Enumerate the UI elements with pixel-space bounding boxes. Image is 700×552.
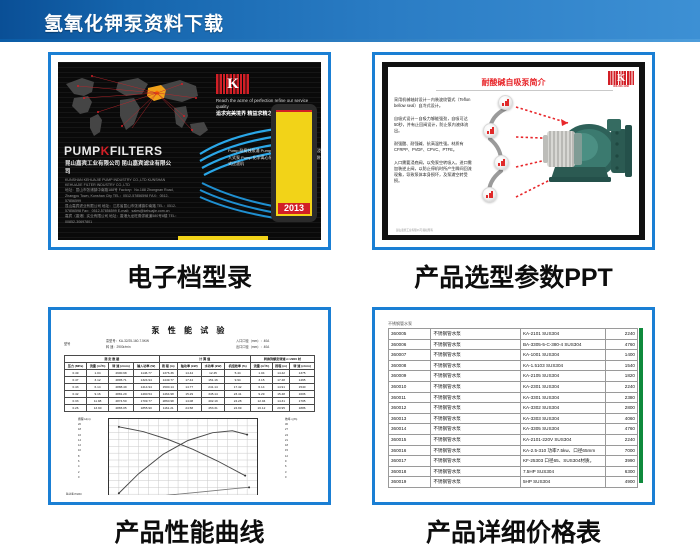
table-col-header: 流量 (m³/h) xyxy=(250,363,272,370)
price-code: 360014 xyxy=(389,424,431,435)
price-name: 不锈钢管水泵 xyxy=(431,403,521,414)
table-cell: 2888.49 xyxy=(109,384,134,391)
table-row: 0.49 1.04 2900.98 1146.77 1376.36 14.44 … xyxy=(65,370,315,377)
price-value: 2380 xyxy=(605,392,637,403)
price-model: 7.5HP SUS304 xyxy=(520,466,605,477)
table-cell: 453.31 xyxy=(201,405,225,412)
table-cell: 0.49 xyxy=(65,370,87,377)
table-cell: 1500.14 xyxy=(159,384,177,391)
card-catalog[interactable]: PUMPKFILTERS 昆山嘉宾工业有限公司 昆山嘉宾滤业有限公司 KUNSH… xyxy=(48,52,331,294)
table-cell: 1886 xyxy=(290,405,315,412)
chart-right-axis: 效率 η(%) 302724211815129630 xyxy=(285,417,307,480)
table-cell: 151.16 xyxy=(201,377,225,384)
table-col-header: 输入功率 (W) xyxy=(133,363,159,370)
price-value: 3990 xyxy=(605,456,637,467)
table-cell: 1540 xyxy=(290,384,315,391)
table-cell: 9.29 xyxy=(250,391,272,398)
report-meta-row: 型号 泵型号：KA-32/25-160-7.5KW 转 速：2900r/min … xyxy=(64,338,315,354)
table-row: 360005 不锈钢管水泵 KA-2101 SUS304 2240 xyxy=(389,329,638,340)
thumbnail-ppt[interactable]: 耐酸碱自吸泵简介 K 400-003-1166 采用机械轴封设计－内装波纹管式（… xyxy=(372,52,655,250)
table-cell: 1449.77 xyxy=(159,377,177,384)
price-name: 不锈钢管水泵 xyxy=(431,456,521,467)
table-cell: 345.14 xyxy=(201,391,225,398)
price-name: 不锈钢管水泵 xyxy=(431,371,521,382)
table-row: 0.42 9.16 2881.29 1490.54 1464.98 15.29 … xyxy=(65,391,315,398)
ppt-paragraph: 采用机械轴封设计－内装波纹管式（Teflon bellow seal）自冷式设计… xyxy=(394,97,472,109)
price-code: 360011 xyxy=(389,392,431,403)
table-cell: 15.48 xyxy=(273,391,290,398)
ppt-title-rule xyxy=(436,90,613,91)
price-code: 360013 xyxy=(389,413,431,424)
price-model: KA-2101-220V SUS304 xyxy=(520,434,605,445)
table-col-header: 水功率 (kW) xyxy=(201,363,225,370)
price-value: 4760 xyxy=(605,424,637,435)
table-header-row: 压力 (MPa) 流量 (m³/h) 转 速 (r/min) 输入功率 (W) … xyxy=(65,363,315,370)
price-value: 1400 xyxy=(605,350,637,361)
table-row: 360009 不锈钢管水泵 KA-2105 SUS304 1820 xyxy=(389,371,638,382)
price-name: 不锈钢管水泵 xyxy=(431,466,521,477)
table-cell: 9.16 xyxy=(86,391,108,398)
cover-address-3: 嘉宾（香港）实业有限公司 地址：香港九龙旺角弥敦道580号8楼 TEL：0085… xyxy=(65,214,183,224)
table-row: 360007 不锈钢管水泵 KA-1001 SUS304 1400 xyxy=(389,350,638,361)
table-cell: 1.04 xyxy=(86,370,108,377)
table-cell: 17.44 xyxy=(177,377,201,384)
price-name: 不锈钢管水泵 xyxy=(431,424,521,435)
price-model: KF-25303 口径65、SUS304材质。 xyxy=(520,456,605,467)
price-code: 360012 xyxy=(389,403,431,414)
table-cell: 23.41 xyxy=(225,391,250,398)
price-code: 360017 xyxy=(389,456,431,467)
ppt-paragraph: 耐强酸、耐强碱、抗高温性强。材质有CFRPP、PVDF、CPVC、PTFE。 xyxy=(394,141,472,153)
table-cell: 1376.36 xyxy=(159,370,177,377)
cover-address-block: KUNSHAN KEHUAJIE PUMP INDUSTRY CO.,LTD K… xyxy=(65,178,183,225)
table-cell: 0.42 xyxy=(65,391,87,398)
price-model: KA-3301 SUS304 xyxy=(520,392,605,403)
table-cell: 11.98 xyxy=(86,398,108,405)
thumbnail-performance-curve[interactable]: 泵 性 能 试 验 型号 泵型号：KA-32/25-160-7.5KW 转 速：… xyxy=(48,307,331,505)
table-cell: 0.47 xyxy=(65,377,87,384)
table-cell: 14.08 xyxy=(177,398,201,405)
table-cell: 16.12 xyxy=(250,405,272,412)
price-name: 不锈钢管水泵 xyxy=(431,360,521,371)
table-cell: 20.95 xyxy=(273,405,290,412)
table-cell: 12.45 xyxy=(201,370,225,377)
table-cell: 0.43 xyxy=(65,384,87,391)
table-cell: 6.14 xyxy=(250,384,272,391)
brand-hotline-label: 400-003-1166 xyxy=(608,85,634,88)
table-cell: 1414.94 xyxy=(133,384,159,391)
table-col-header: 转 速 (r/min) xyxy=(109,363,134,370)
cover-yellow-bar xyxy=(178,236,268,240)
chart-bottom-axis-label: 轴功率 P(kW) xyxy=(66,493,82,495)
pump-product-photo xyxy=(531,111,635,189)
table-cell: 14.91 xyxy=(273,384,290,391)
table-group-header: 测 定 数 据 xyxy=(65,356,160,363)
caption-ppt: 产品选型参数PPT xyxy=(372,258,655,294)
card-price-table[interactable]: 不锈钢管水泵 360005 不锈钢管水泵 KA-2101 SUS304 2240… xyxy=(372,307,655,549)
price-name: 不锈钢管水泵 xyxy=(431,434,521,445)
brand-k-logo-icon: K xyxy=(216,74,250,94)
cover-address-2: 昆山嘉宾滤业有限公司 地址：江苏省昆山市张浦镇中南路 TEL：0512-5785… xyxy=(65,204,183,214)
table-cell: 2881.29 xyxy=(109,391,134,398)
vertical-scrollbar[interactable] xyxy=(639,328,643,483)
table-cell: 241.14 xyxy=(201,384,225,391)
table-row: 360008 不锈钢管水泵 KA-1.5103 SUS304 1540 xyxy=(389,360,638,371)
table-group-header: 转换到额定转速 n=2900 时 xyxy=(250,356,314,363)
ppt-slide-image: 耐酸碱自吸泵简介 K 400-003-1166 采用机械轴封设计－内装波纹管式（… xyxy=(382,62,645,240)
price-value: 1820 xyxy=(605,371,637,382)
table-col-header: 压力 (MPa) xyxy=(65,363,87,370)
brand-k-letter: K xyxy=(227,76,239,93)
table-cell: 14.77 xyxy=(177,384,201,391)
price-name: 不锈钢管水泵 xyxy=(431,329,521,340)
price-value: 1540 xyxy=(605,360,637,371)
price-model: KA-3302 SUS304 xyxy=(520,403,605,414)
report-title: 泵 性 能 试 验 xyxy=(64,325,315,336)
price-value: 2240 xyxy=(605,381,637,392)
chart-right-axis-label: 效率 η(%) xyxy=(285,417,307,421)
report-meta-item: 型号 xyxy=(64,341,70,346)
price-value: 2240 xyxy=(605,329,637,340)
table-cell: 0.26 xyxy=(65,405,87,412)
price-name: 不锈钢管水泵 xyxy=(431,413,521,424)
ppt-paragraph: 入口需要浸底阀，以免泵空转吸入。进口需加装逆止阀，以防止停机时所产生瞬间回流现象… xyxy=(394,160,472,184)
page-header: 氢氧化钾泵资料下载 xyxy=(0,0,700,42)
table-cell: 17.42 xyxy=(225,384,250,391)
brand-k-letter: K xyxy=(617,72,626,84)
table-row: 360011 不锈钢管水泵 KA-3301 SUS304 2380 xyxy=(389,392,638,403)
table-group-header-row: 测 定 数 据 计 算 值 转换到额定转速 n=2900 时 xyxy=(65,356,315,363)
card-performance-curve[interactable]: 泵 性 能 试 验 型号 泵型号：KA-32/25-160-7.5KW 转 速：… xyxy=(48,307,331,549)
table-cell: 12.04 xyxy=(250,398,272,405)
chart-plot-area xyxy=(108,418,258,495)
table-cell: 5.44 xyxy=(225,370,250,377)
table-row: 0.43 6.14 2888.49 1414.94 1500.14 14.77 … xyxy=(65,384,315,391)
table-row: 360015 不锈钢管水泵 KA-2101-220V SUS304 2240 xyxy=(389,434,638,445)
table-col-header: 机组效率 (%) xyxy=(225,363,250,370)
price-code: 360018 xyxy=(389,466,431,477)
caption-performance-curve: 产品性能曲线 xyxy=(48,513,331,549)
table-cell: 1465 xyxy=(290,377,315,384)
table-col-header: 转 速 (r/min) xyxy=(290,363,315,370)
price-code: 360007 xyxy=(389,350,431,361)
chart-right-ticks: 302724211815129630 xyxy=(285,422,307,480)
price-value: 6300 xyxy=(605,466,637,477)
table-col-header: 扬 程 (m) xyxy=(159,363,177,370)
table-row: 360010 不锈钢管水泵 KA-2301 SUS304 2240 xyxy=(389,381,638,392)
table-row: 360018 不锈钢管水泵 7.5HP SUS304 6300 xyxy=(389,466,638,477)
cover-brand-left: PUMP xyxy=(64,144,101,158)
table-cell: 1324.94 xyxy=(133,377,159,384)
price-model: KA-2.5-310 功率7.5kw、口径65mm xyxy=(520,445,605,456)
report-meta-item: 转 速：2900r/min xyxy=(106,344,131,349)
table-cell: 2895.71 xyxy=(109,377,134,384)
chart-bullet-icon xyxy=(498,95,513,110)
table-cell: 1146.77 xyxy=(133,370,159,377)
table-cell: 9.94 xyxy=(225,377,250,384)
table-cell: 1705 xyxy=(290,398,315,405)
table-cell: 14.31 xyxy=(273,398,290,405)
table-cell: 14.42 xyxy=(273,370,290,377)
price-model: BA-3305-5-C-380-4 SUS304 xyxy=(520,339,605,350)
price-code: 360010 xyxy=(389,381,431,392)
page-root: 氢氧化钾泵资料下载 xyxy=(0,0,700,552)
report-meta-item: 出口口径（mm）：40A xyxy=(236,344,269,349)
price-code: 360016 xyxy=(389,445,431,456)
table-cell: 402.19 xyxy=(201,398,225,405)
table-cell: 1161.21 xyxy=(159,405,177,412)
cover-year-label: 2013 xyxy=(278,203,310,214)
table-row: 360013 不锈钢管水泵 KA-3303 SUS304 4060 xyxy=(389,413,638,424)
price-code: 360008 xyxy=(389,360,431,371)
price-value: 4900 xyxy=(605,477,637,488)
price-name: 不锈钢管水泵 xyxy=(431,350,521,361)
brand-k-logo-icon: K xyxy=(608,71,634,85)
thumbnail-price-table[interactable]: 不锈钢管水泵 360005 不锈钢管水泵 KA-2101 SUS304 2240… xyxy=(372,307,655,505)
world-map-icon xyxy=(62,68,212,142)
table-cell: 24.99 xyxy=(225,405,250,412)
table-row: 360014 不锈钢管水泵 KA-3305 SUS304 4760 xyxy=(389,424,638,435)
chart-left-ticks: 20181614121086420 xyxy=(78,422,100,480)
table-cell: 2865.05 xyxy=(109,405,134,412)
cover-brand-mark: K xyxy=(101,144,110,158)
caption-price-table: 产品详细价格表 xyxy=(372,513,655,549)
table-cell: 1709.77 xyxy=(133,398,159,405)
price-code: 360019 xyxy=(389,477,431,488)
price-name: 不锈钢管水泵 xyxy=(431,381,521,392)
table-row: 0.33 11.98 2874.50 1709.77 2860.98 14.08… xyxy=(65,398,315,405)
table-cell: 24.58 xyxy=(177,405,201,412)
caption-catalog: 电子档型录 xyxy=(48,258,331,294)
price-model: KA-3303 SUS304 xyxy=(520,413,605,424)
price-model: KA-2101 SUS304 xyxy=(520,329,605,340)
price-code: 360015 xyxy=(389,434,431,445)
report-meta-item: 入口口径（mm）：40A xyxy=(236,338,269,343)
chart-bullet-icon xyxy=(482,187,497,202)
price-model: KA-2301 SUS304 xyxy=(520,381,605,392)
chart-left-axis-label: 扬程 H(m) xyxy=(78,417,100,421)
table-cell: 1375 xyxy=(290,370,315,377)
table-col-header: 扬程 (m) xyxy=(273,363,290,370)
price-name: 不锈钢管水泵 xyxy=(431,392,521,403)
performance-data-table: 测 定 数 据 计 算 值 转换到额定转速 n=2900 时 压力 (MPa) … xyxy=(64,355,315,412)
price-table-image: 不锈钢管水泵 360005 不锈钢管水泵 KA-2101 SUS304 2240… xyxy=(382,317,645,495)
page-title: 氢氧化钾泵资料下载 xyxy=(44,9,224,36)
price-code: 360006 xyxy=(389,339,431,350)
chart-bullet-icon xyxy=(483,123,498,138)
table-cell: 24.28 xyxy=(225,398,250,405)
cover-address-1: 地址：昆山市张浦镇中南路188号 Factory：No.188 Zhongnan… xyxy=(65,188,183,204)
table-row: 360017 不锈钢管水泵 KF-25303 口径65、SUS304材质。 39… xyxy=(389,456,638,467)
table-row: 360012 不锈钢管水泵 KA-3302 SUS304 2800 xyxy=(389,403,638,414)
performance-report-image: 泵 性 能 试 验 型号 泵型号：KA-32/25-160-7.5KW 转 速：… xyxy=(58,317,321,495)
table-group-header: 计 算 值 xyxy=(159,356,250,363)
cover-company-cn: 昆山嘉宾工业有限公司 昆山嘉宾滤业有限公司 xyxy=(65,160,175,176)
cover-brand-lockup: PUMPKFILTERS xyxy=(64,144,162,158)
table-row: 0.26 13.90 2865.05 1855.90 1161.21 24.58… xyxy=(65,405,315,412)
chart-bullet-icon xyxy=(494,155,509,170)
table-cell: 1855.90 xyxy=(133,405,159,412)
price-value: 4760 xyxy=(605,339,637,350)
table-row: 360019 不锈钢管水泵 5HP SUS304 4900 xyxy=(389,477,638,488)
table-cell: 1490.54 xyxy=(133,391,159,398)
table-row: 360016 不锈钢管水泵 KA-2.5-310 功率7.5kw、口径65mm … xyxy=(389,445,638,456)
report-meta-item: 泵型号：KA-32/25-160-7.5KW xyxy=(106,338,149,343)
table-col-header: 流量 (m³/h) xyxy=(86,363,108,370)
table-cell: 14.44 xyxy=(177,370,201,377)
table-cell: 1606 xyxy=(290,391,315,398)
table-cell: 3.15 xyxy=(250,377,272,384)
catalog-cover-image: PUMPKFILTERS 昆山嘉宾工业有限公司 昆山嘉宾滤业有限公司 KUNSH… xyxy=(58,62,321,240)
ppt-slide-title: 耐酸碱自吸泵简介 xyxy=(388,77,639,88)
price-model: KA-3305 SUS304 xyxy=(520,424,605,435)
cover-company-en: KUNSHAN KEHUAJIE PUMP INDUSTRY CO.,LTD K… xyxy=(65,178,183,188)
ppt-paragraph-list: 采用机械轴封设计－内装波纹管式（Teflon bellow seal）自冷式设计… xyxy=(394,97,472,191)
price-name: 不锈钢管水泵 xyxy=(431,339,521,350)
price-value: 2800 xyxy=(605,403,637,414)
price-model: 5HP SUS304 xyxy=(520,477,605,488)
price-model: KA-1.5103 SUS304 xyxy=(520,360,605,371)
table-cell: 3.12 xyxy=(86,377,108,384)
card-ppt[interactable]: 耐酸碱自吸泵简介 K 400-003-1166 采用机械轴封设计－内装波纹管式（… xyxy=(372,52,655,294)
table-cell: 6.14 xyxy=(86,384,108,391)
price-table-partial-row: 不锈钢管水泵 xyxy=(388,321,633,326)
table-cell: 2874.50 xyxy=(109,398,134,405)
performance-chart: 扬程 H(m) 20181614121086420 效率 η(%) 302724… xyxy=(64,415,315,495)
cover-year-panel: 2013 xyxy=(271,104,317,222)
price-value: 7000 xyxy=(605,445,637,456)
table-row: 360006 不锈钢管水泵 BA-3305-5-C-380-4 SUS304 4… xyxy=(389,339,638,350)
price-model: KA-2105 SUS304 xyxy=(520,371,605,382)
table-cell: 2900.98 xyxy=(109,370,134,377)
price-name: 不锈钢管水泵 xyxy=(431,445,521,456)
price-model: KA-1001 SUS304 xyxy=(520,350,605,361)
table-cell: 15.29 xyxy=(177,391,201,398)
table-col-header: 轴功率 (kW) xyxy=(177,363,201,370)
price-value: 4060 xyxy=(605,413,637,424)
price-value: 2240 xyxy=(605,434,637,445)
price-name: 不锈钢管水泵 xyxy=(431,477,521,488)
thumbnail-catalog[interactable]: PUMPKFILTERS 昆山嘉宾工业有限公司 昆山嘉宾滤业有限公司 KUNSH… xyxy=(48,52,331,250)
ppt-paragraph: 自吸式设计－自吸力够能强劲，自吸可达50秒，并有止回阀设计，防止泵内液体流出。 xyxy=(394,116,472,134)
table-cell: 17.48 xyxy=(273,377,290,384)
price-table: 360005 不锈钢管水泵 KA-2101 SUS304 2240 360006… xyxy=(388,328,638,488)
table-cell: 0.33 xyxy=(65,398,87,405)
table-cell: 1464.98 xyxy=(159,391,177,398)
table-cell: 13.90 xyxy=(86,405,108,412)
table-cell: 2860.98 xyxy=(159,398,177,405)
download-card-grid: PUMPKFILTERS 昆山嘉宾工业有限公司 昆山嘉宾滤业有限公司 KUNSH… xyxy=(0,42,700,552)
price-code: 360005 xyxy=(389,329,431,340)
cover-brand-right: FILTERS xyxy=(110,144,163,158)
table-row: 0.47 3.12 2895.71 1324.94 1449.77 17.44 … xyxy=(65,377,315,384)
table-cell: 1.04 xyxy=(250,370,272,377)
price-code: 360009 xyxy=(389,371,431,382)
ppt-footer-note: 昆山嘉宾工业有限公司 版权所有 xyxy=(396,228,433,232)
chart-left-axis: 扬程 H(m) 20181614121086420 xyxy=(78,417,100,480)
